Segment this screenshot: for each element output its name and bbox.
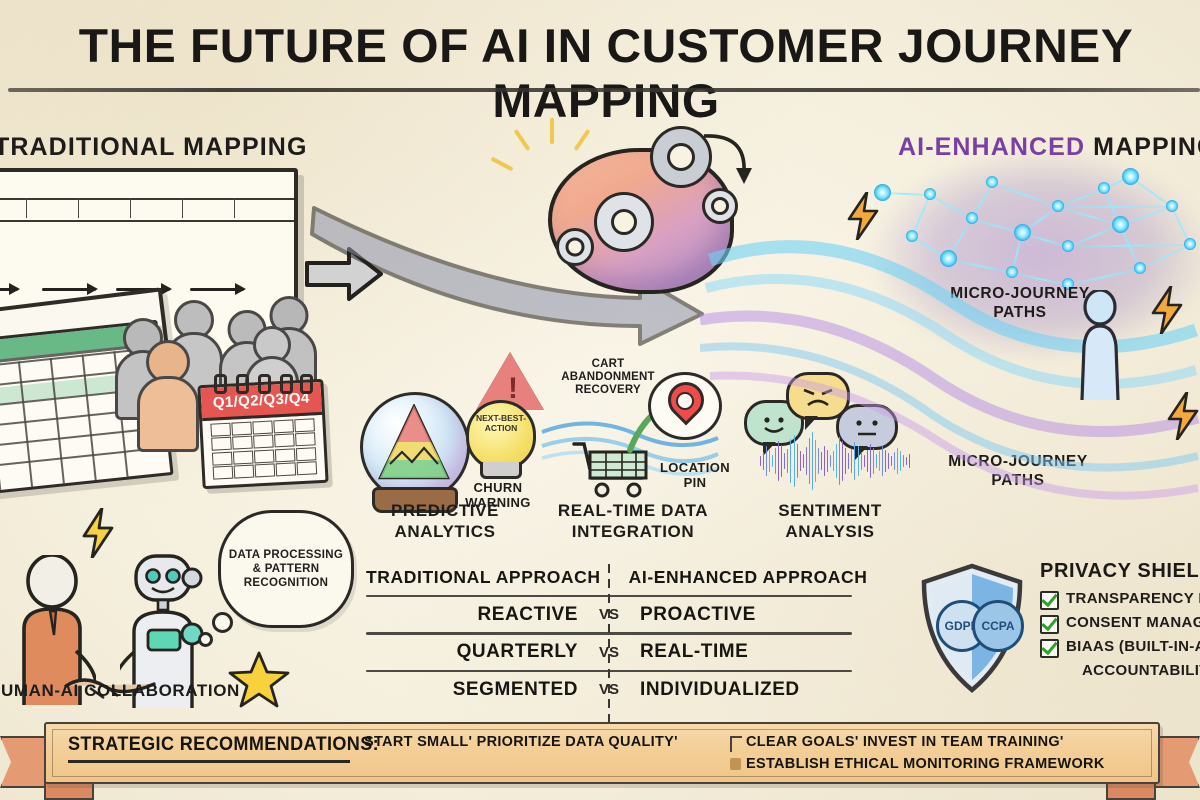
- checkbox-checked-icon: [1040, 591, 1059, 610]
- banner-bracket-icon: [730, 736, 742, 752]
- comparison-left-value: QUARTERLY: [366, 641, 592, 663]
- privacy-item-label: CONSENT MANAGEM: [1066, 614, 1200, 631]
- comparison-table: TRADITIONAL APPROACH AI-ENHANCED APPROAC…: [366, 560, 852, 707]
- pin-dot: [676, 392, 694, 410]
- gear-icon: [594, 192, 654, 252]
- list-item: TRANSPARENCY FIR: [1040, 590, 1200, 610]
- privacy-item-label: TRANSPARENCY FIR: [1066, 590, 1200, 607]
- bulb-base: [480, 462, 522, 479]
- ai-customer-figure: [1074, 290, 1126, 400]
- banner-label-underline: [68, 760, 350, 763]
- section-heading-traditional: TRADITIONAL MAPPING: [0, 133, 308, 162]
- strategic-recommendations-banner: STRATEGIC RECOMMENDATIONS: START SMALL' …: [44, 722, 1160, 784]
- banner-marker-icon: [730, 758, 741, 770]
- checkbox-checked-icon: [1040, 639, 1059, 658]
- comparison-left-value: SEGMENTED: [366, 679, 592, 701]
- checkbox-checked-icon: [1040, 615, 1059, 634]
- banner-ribbon-tail-left: [0, 736, 50, 788]
- privacy-item-wrap: ACCOUNTABILITY): [1040, 662, 1200, 679]
- lightning-bolt-icon: [1166, 392, 1200, 440]
- next-best-action-bulb-icon: NEXT-BEST-ACTION: [466, 400, 536, 470]
- persona-silhouette-highlight: [140, 340, 196, 446]
- comparison-right-value: INDIVIDUALIZED: [626, 679, 852, 701]
- banner-recommendation-line-1b: CLEAR GOALS' INVEST IN TEAM TRAINING': [746, 734, 1064, 750]
- privacy-shield-title: PRIVACY SHIELD: [1040, 560, 1200, 583]
- comparison-right-value: PROACTIVE: [626, 604, 852, 626]
- banner-recommendation-line-2: ESTABLISH ETHICAL MONITORING FRAMEWORK: [746, 756, 1105, 772]
- banner-recommendation-line-1: START SMALL' PRIORITIZE DATA QUALITY': [364, 734, 678, 750]
- comparison-left-value: REACTIVE: [366, 604, 592, 626]
- list-item: CONSENT MANAGEM: [1040, 614, 1200, 634]
- comparison-col2-header: AI-ENHANCED APPROACH: [615, 567, 868, 588]
- ai-thought-bubble: DATA PROCESSING & PATTERN RECOGNITION: [218, 510, 354, 628]
- page-title: THE FUTURE OF AI IN CUSTOMER JOURNEY MAP…: [0, 18, 1200, 128]
- list-item: BIAAS (BUILT-IN-AL: [1040, 638, 1200, 658]
- thought-dot: [198, 632, 213, 647]
- title-underline: [8, 88, 1200, 92]
- thought-bubble-text: DATA PROCESSING & PATTERN RECOGNITION: [225, 548, 347, 590]
- comparison-rule: [366, 632, 852, 634]
- ccpa-badge: CCPA: [972, 600, 1024, 652]
- forecast-chart-icon: [378, 404, 450, 484]
- lightning-bolt-icon: [80, 508, 116, 558]
- banner-label: STRATEGIC RECOMMENDATIONS:: [68, 734, 379, 756]
- privacy-item-label: BIAAS (BUILT-IN-AL: [1066, 638, 1200, 655]
- bulb-text: NEXT-BEST-ACTION: [469, 413, 533, 433]
- infographic-canvas: THE FUTURE OF AI IN CUSTOMER JOURNEY MAP…: [0, 0, 1200, 800]
- comparison-col1-header: TRADITIONAL APPROACH: [366, 567, 615, 588]
- lightning-bolt-icon: [1150, 286, 1184, 334]
- human-ai-collaboration-label: HUMAN-AI COLLABORATION: [0, 680, 244, 701]
- predictive-analytics-label: PREDICTIVE ANALYTICS: [350, 500, 540, 542]
- calendar-rings: [200, 382, 320, 396]
- comparison-rule: [366, 670, 852, 672]
- comparison-right-value: REAL-TIME: [626, 641, 852, 663]
- comparison-divider: [608, 564, 610, 734]
- gear-icon: [556, 228, 594, 266]
- privacy-shield-panel: PRIVACY SHIELD TRANSPARENCY FIR CONSENT …: [1040, 560, 1200, 679]
- lightning-bolt-icon: [846, 192, 880, 240]
- thought-dot: [212, 612, 233, 633]
